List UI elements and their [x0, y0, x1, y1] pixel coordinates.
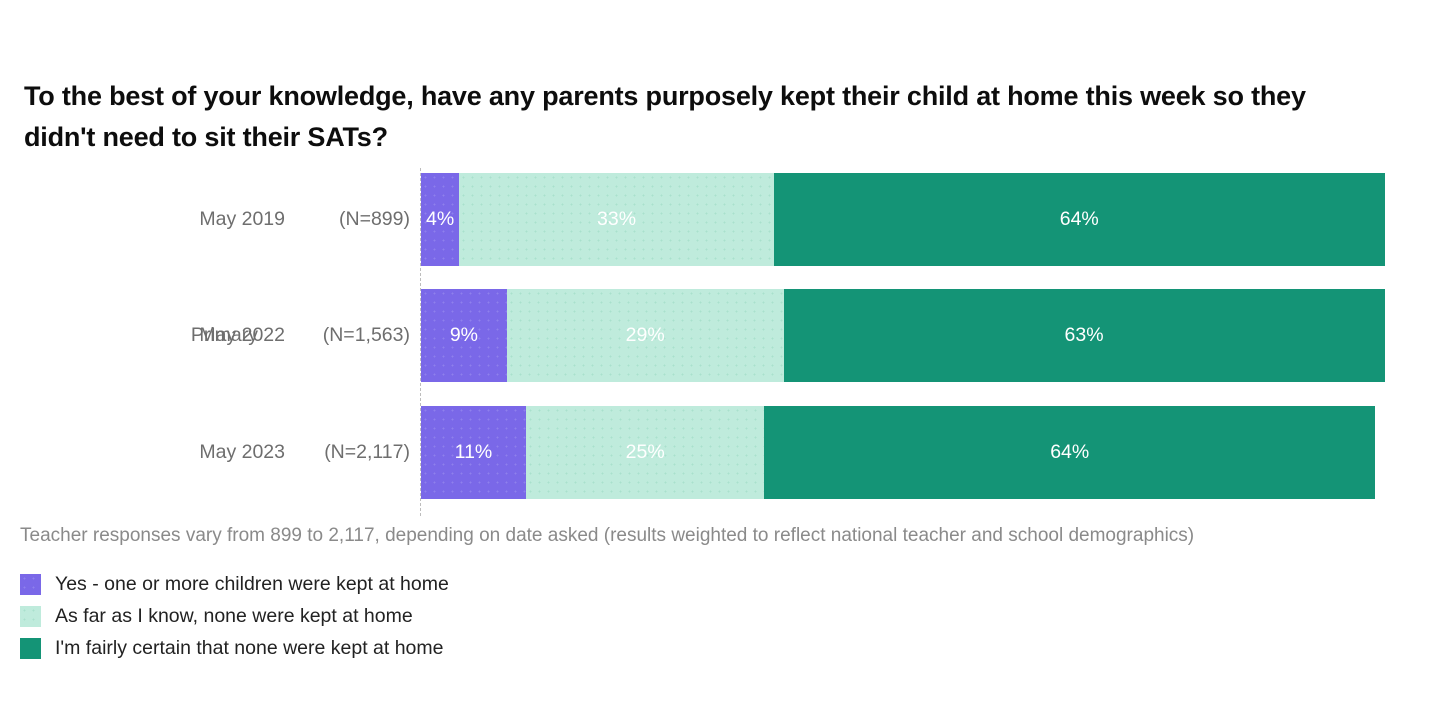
row-sample-size-label: (N=2,117)	[0, 406, 410, 499]
bar-segment-as-far-as-i-know[interactable]: 33%	[459, 173, 774, 266]
chart-footnote: Teacher responses vary from 899 to 2,117…	[20, 525, 1194, 547]
bar-segment-yes[interactable]: 11%	[421, 406, 526, 499]
legend-item-fairly-certain[interactable]: I'm fairly certain that none were kept a…	[20, 632, 820, 664]
bar-segment-fairly-certain[interactable]: 64%	[774, 173, 1385, 266]
stacked-bar-track: 11% 25% 64%	[421, 406, 1375, 499]
bar-row: May 2023 (N=2,117) 11% 25% 64%	[0, 406, 1440, 499]
legend-item-as-far-as-i-know[interactable]: As far as I know, none were kept at home	[20, 600, 820, 632]
row-sample-size-label: (N=1,563)	[0, 289, 410, 382]
chart-legend: Yes - one or more children were kept at …	[20, 568, 820, 664]
chart-plot-area: May 2019 (N=899) 4% 33% 64% Primary May …	[0, 165, 1440, 517]
legend-swatch-icon	[20, 638, 41, 659]
bar-segment-yes[interactable]: 4%	[421, 173, 459, 266]
bar-segment-fairly-certain[interactable]: 63%	[784, 289, 1385, 382]
row-sample-size-label: (N=899)	[0, 173, 410, 266]
bar-segment-fairly-certain[interactable]: 64%	[764, 406, 1375, 499]
stacked-bar-track: 9% 29% 63%	[421, 289, 1375, 382]
legend-item-label: As far as I know, none were kept at home	[55, 605, 413, 628]
legend-item-yes[interactable]: Yes - one or more children were kept at …	[20, 568, 820, 600]
bar-segment-as-far-as-i-know[interactable]: 25%	[526, 406, 765, 499]
bar-row: Primary May 2022 (N=1,563) 9% 29% 63%	[0, 289, 1440, 382]
legend-swatch-icon	[20, 606, 41, 627]
stacked-bar-track: 4% 33% 64%	[421, 173, 1375, 266]
legend-item-label: I'm fairly certain that none were kept a…	[55, 637, 444, 660]
chart-title: To the best of your knowledge, have any …	[24, 76, 1384, 158]
bar-segment-as-far-as-i-know[interactable]: 29%	[507, 289, 784, 382]
bar-segment-yes[interactable]: 9%	[421, 289, 507, 382]
legend-item-label: Yes - one or more children were kept at …	[55, 573, 449, 596]
bar-row: May 2019 (N=899) 4% 33% 64%	[0, 173, 1440, 266]
legend-swatch-icon	[20, 574, 41, 595]
